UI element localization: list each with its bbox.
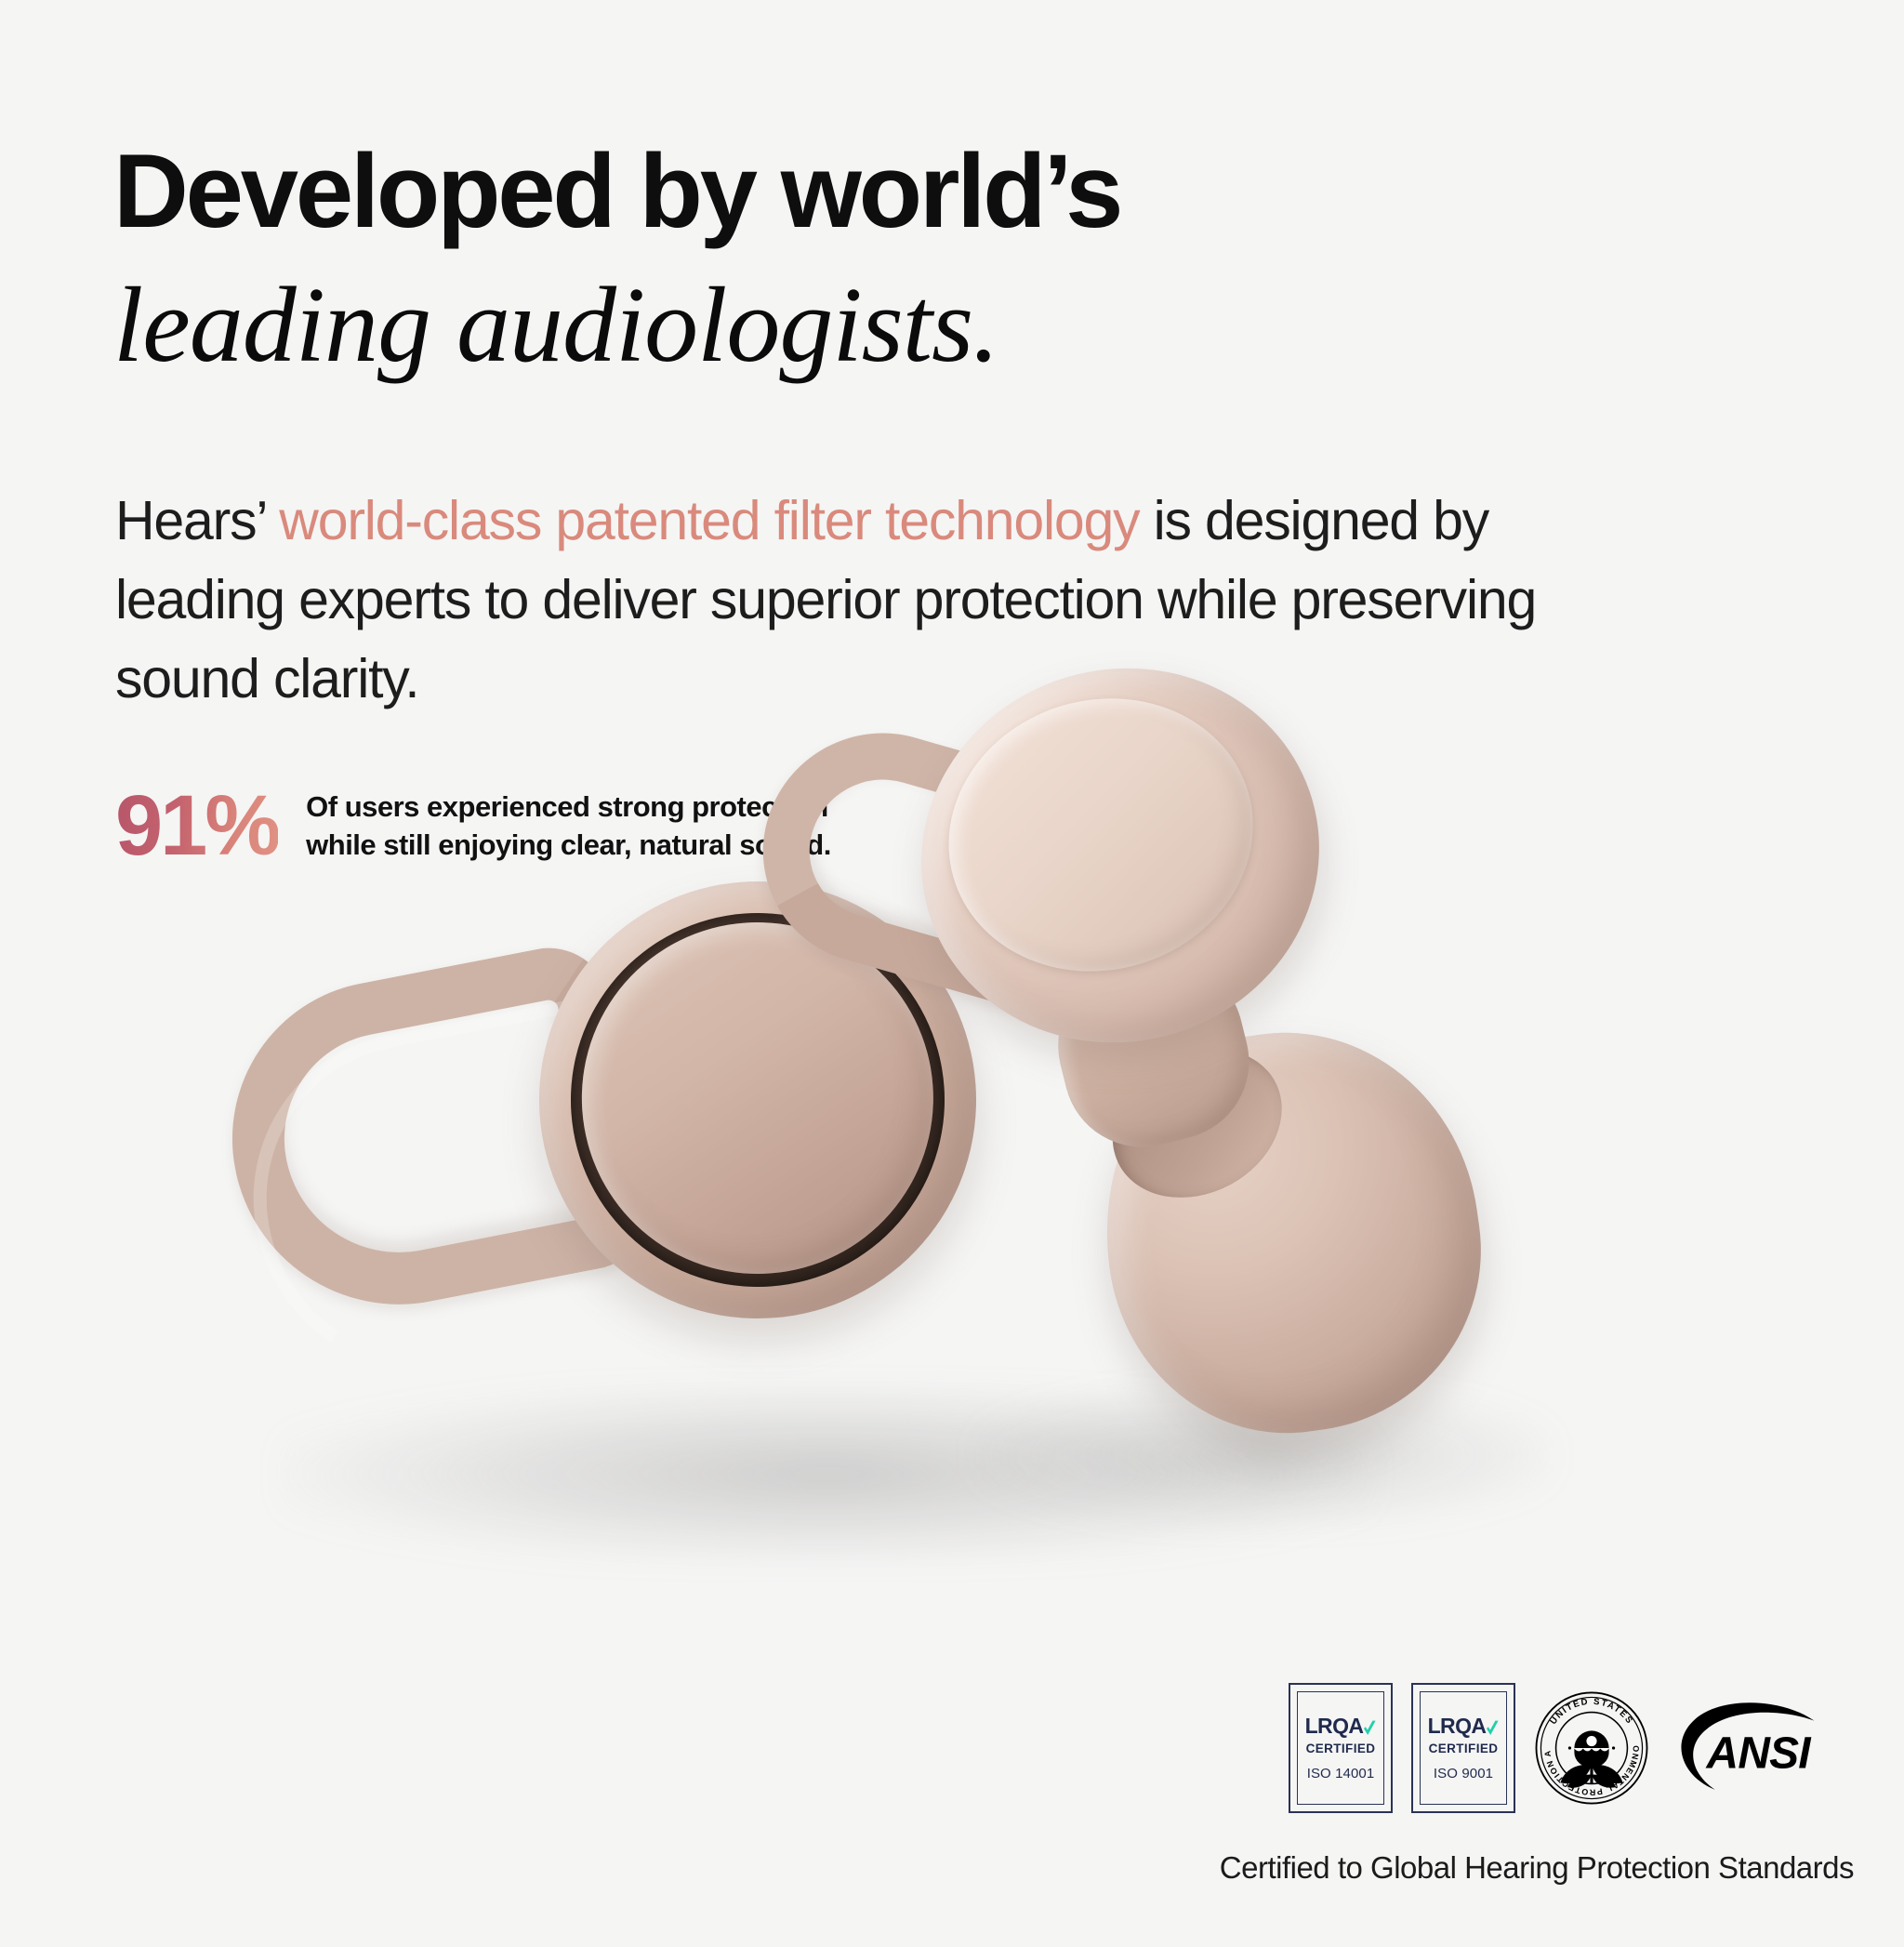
marketing-hero-page: Developed by world’s leading audiologist… [0,0,1904,1947]
lrqa-logo-icon: LRQA [1428,1715,1500,1737]
lrqa-standard-label-2: ISO 9001 [1434,1766,1493,1781]
ansi-wordmark-text: ANSI [1706,1729,1813,1779]
ansi-logo-icon: ANSI [1673,1699,1831,1797]
paragraph-lead: Hears’ [115,490,279,551]
badge-lrqa-iso-9001: LRQA CERTIFIED ISO 9001 [1411,1683,1515,1813]
earbud-back-cap [877,621,1364,1089]
lrqa-wordmark-1: LRQA [1305,1715,1364,1737]
certification-caption: Certified to Global Hearing Protection S… [1220,1850,1854,1886]
lrqa-certified-label-1: CERTIFIED [1306,1742,1376,1755]
epa-seal-icon: UNITED STATES ENVIRONMENTAL PROTECTION A… [1534,1690,1649,1806]
paragraph-accent-phrase: world-class patented filter technology [279,490,1139,551]
badge-lrqa-iso-14001: LRQA CERTIFIED ISO 14001 [1289,1683,1393,1813]
badge-lrqa-iso-14001-inner: LRQA CERTIFIED ISO 14001 [1297,1691,1384,1805]
lrqa-standard-label-1: ISO 14001 [1307,1766,1375,1781]
lrqa-logo-icon: LRQA [1305,1715,1377,1737]
lrqa-check-icon [1487,1720,1499,1736]
earbud-back [734,679,1571,1478]
lrqa-check-icon [1364,1720,1376,1736]
product-image [0,865,1904,1627]
lrqa-certified-label-2: CERTIFIED [1429,1742,1499,1755]
earbud-back-cap-face [917,663,1286,1007]
headline-line-2-italic: leading audiologists. [113,266,1508,387]
certification-badges: LRQA CERTIFIED ISO 14001 LRQA CERTIFIED [1289,1683,1831,1813]
headline-block: Developed by world’s leading audiologist… [113,139,1508,387]
headline-line-1: Developed by world’s [113,139,1508,244]
badge-lrqa-iso-9001-inner: LRQA CERTIFIED ISO 9001 [1420,1691,1507,1805]
lrqa-wordmark-2: LRQA [1428,1715,1487,1737]
